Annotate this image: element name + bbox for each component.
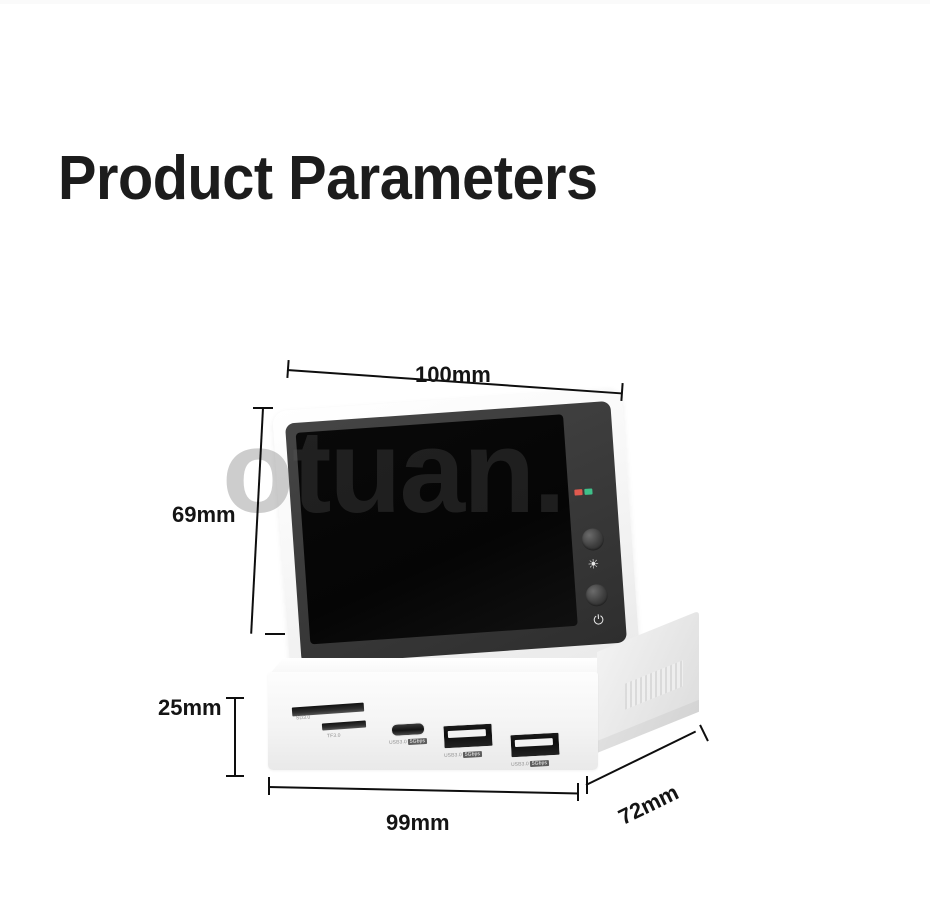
usba1-label-text: USB3.0 — [444, 752, 462, 759]
dimension-line — [234, 697, 236, 777]
led-red-icon — [574, 489, 582, 496]
usb-a-tongue-2 — [515, 738, 553, 747]
dimension-label-69mm: 69mm — [172, 502, 236, 528]
dimension-tick-end — [226, 775, 244, 777]
display-screen — [296, 414, 578, 644]
usba2-speed-chip: 5Gbps — [530, 760, 550, 767]
usbc-speed-chip: 5Gbps — [408, 738, 428, 745]
dimension-tick-start — [586, 776, 588, 794]
usbc-label-text: USB3.0 — [389, 739, 407, 746]
dimension-label-25mm: 25mm — [158, 695, 222, 721]
power-icon: ⏻ — [593, 613, 604, 627]
dimension-tick-end — [577, 783, 579, 801]
screen-bezel: ☀ ⏻ — [285, 401, 627, 665]
dimension-tick-start — [253, 407, 273, 409]
led-green-icon — [584, 488, 592, 495]
product-parameters-page: Product Parameters ☀ ⏻ — [0, 0, 930, 897]
tf-card-slot-label: TF3.0 — [327, 733, 341, 740]
usba1-speed-chip: 5Gbps — [463, 751, 483, 758]
usb-a-port-2[interactable] — [509, 732, 560, 759]
usb-a-port-1[interactable] — [442, 723, 493, 750]
sun-icon: ☀ — [587, 557, 600, 571]
tf-label-text: TF3.0 — [327, 733, 341, 740]
dimension-tick-start — [226, 697, 244, 699]
usb-c-port[interactable] — [391, 722, 426, 737]
power-button[interactable] — [585, 584, 608, 607]
dimension-label-99mm: 99mm — [386, 810, 450, 836]
usb-a-tongue-1 — [448, 729, 486, 738]
sd-label-text: SD3.0 — [296, 715, 311, 722]
monitor-head: ☀ ⏻ — [272, 387, 640, 679]
dimension-tick-start — [268, 777, 270, 795]
brightness-button[interactable] — [581, 528, 604, 551]
dimension-tick-end — [265, 633, 285, 635]
product-illustration: ☀ ⏻ SD3.0 TF3.0 USB3.05Gbps USB3.05Gbps — [0, 0, 930, 897]
usba2-label-text: USB3.0 — [511, 761, 529, 768]
sd-card-slot-label: SD3.0 — [296, 715, 311, 722]
led-indicator-group — [574, 488, 602, 496]
dimension-label-100mm: 100mm — [415, 362, 491, 388]
